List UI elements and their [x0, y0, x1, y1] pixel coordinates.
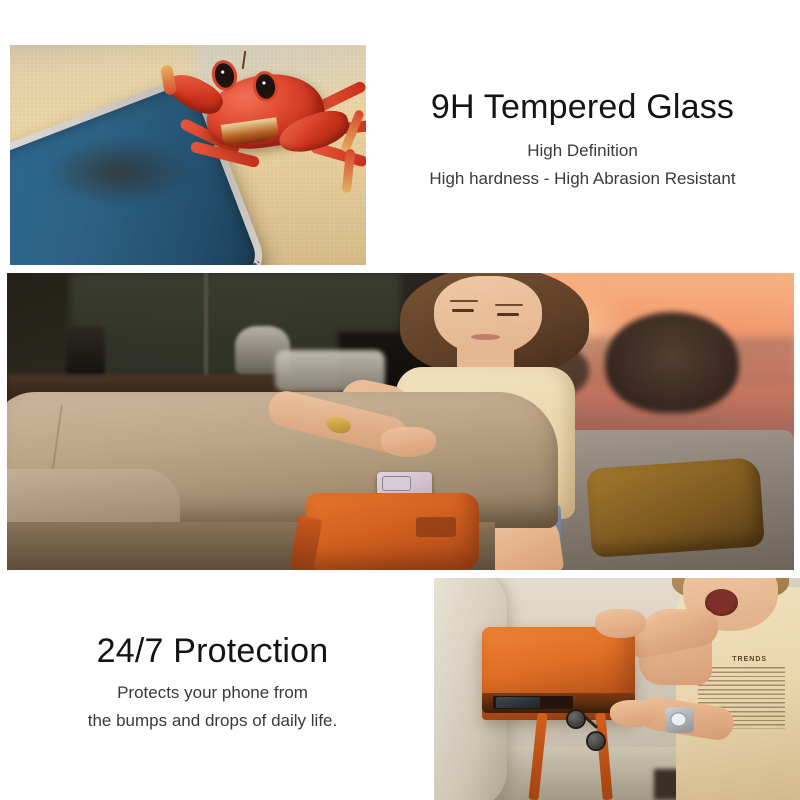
woman-reaching-hand — [610, 700, 658, 727]
handbag-tag — [416, 517, 455, 538]
woman-hand-on-bag — [595, 609, 646, 638]
tempered-glass-subline-2: High hardness - High Abrasion Resistant — [370, 166, 795, 192]
tempered-glass-text-block: 9H Tempered Glass High Definition High h… — [370, 88, 795, 193]
shocked-woman-bag-image: TRENDS — [434, 578, 800, 800]
red-crab — [160, 53, 366, 238]
protection-text-block: 24/7 Protection Protects your phone from… — [5, 632, 420, 735]
sunglasses-lens-1 — [568, 711, 584, 727]
woman-eyebrow-right — [495, 304, 523, 306]
falling-smartphone — [496, 697, 540, 708]
woman-lips — [471, 334, 499, 340]
living-room-sunset-image — [7, 273, 794, 570]
phone-camera-module — [382, 476, 410, 491]
woman-eye-right — [497, 313, 518, 316]
crab-on-beach-image — [10, 45, 366, 265]
background-tree-large — [605, 312, 739, 413]
product-infographic-page: 9H Tempered Glass High Definition High h… — [0, 0, 800, 800]
dark-vase — [66, 326, 105, 374]
crab-antenna — [242, 51, 246, 69]
tank-top-brand-label: TRENDS — [732, 656, 767, 663]
protection-subline-2: the bumps and drops of daily life. — [5, 708, 420, 734]
tempered-glass-subline-1: High Definition — [370, 138, 795, 164]
reaching-hand — [381, 427, 436, 457]
gold-throw-pillow — [587, 457, 766, 558]
protection-subline-1: Protects your phone from — [5, 680, 420, 706]
sunglasses-lens-2 — [588, 733, 604, 749]
protection-headline: 24/7 Protection — [5, 632, 420, 670]
tempered-glass-headline: 9H Tempered Glass — [370, 88, 795, 126]
floor-lamp-pole — [204, 273, 208, 386]
